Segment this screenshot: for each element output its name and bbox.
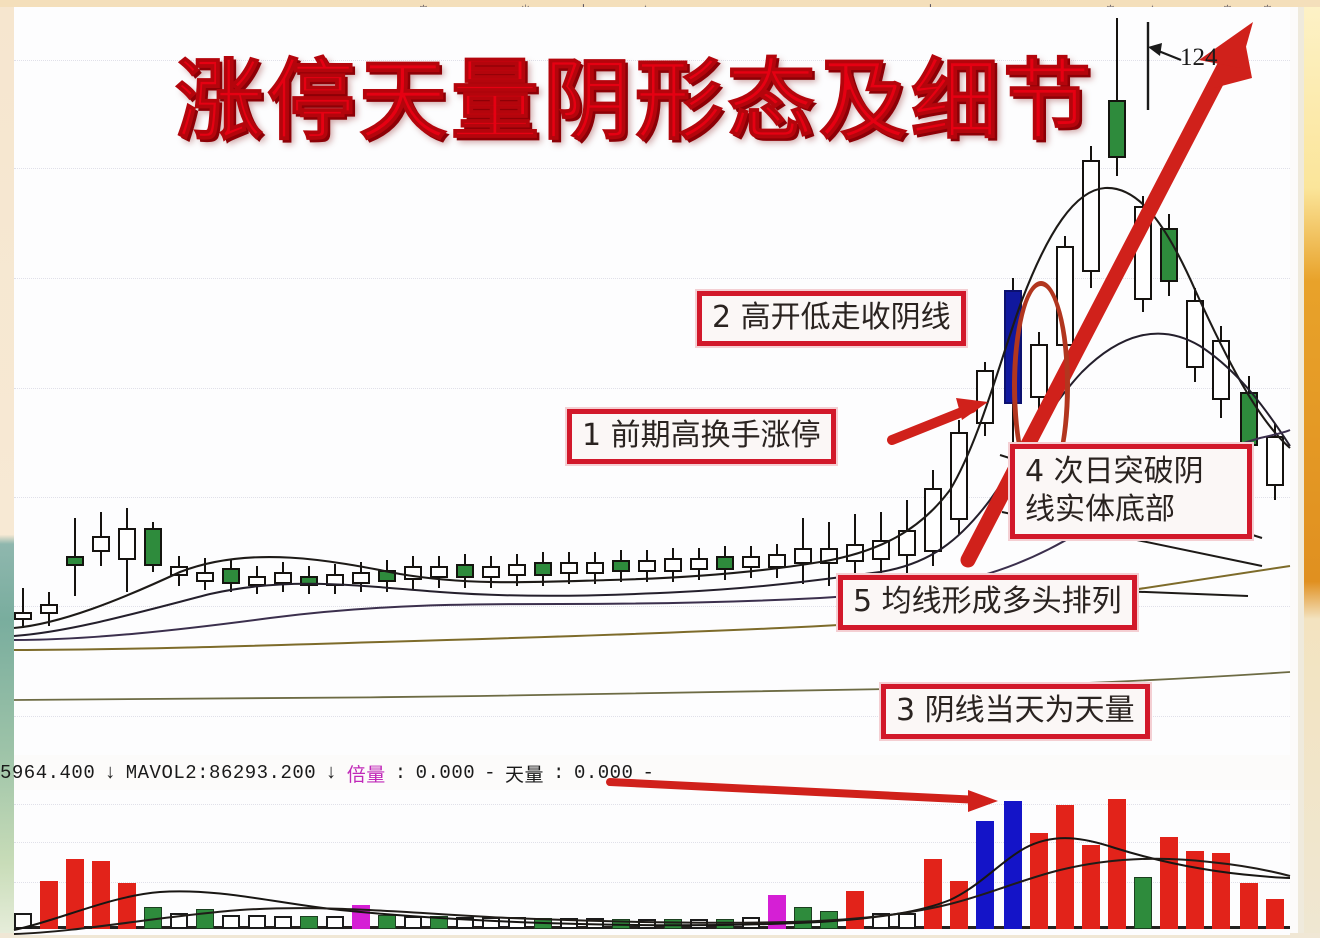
volume-bar [352,905,370,929]
candle-body [222,568,240,584]
candle-body [482,566,500,578]
candle-body [742,556,760,568]
volume-bar [1134,877,1152,929]
candle-body [170,566,188,576]
candle-body [1266,436,1284,486]
candle [430,556,448,588]
candle [898,500,916,578]
volume-bar [508,917,526,929]
volume-chart-panel [14,790,1290,935]
candle-body [586,562,604,574]
status-multiple-label: 倍量 [347,760,386,787]
volume-gridline [14,842,1290,843]
annotation-4-callout[interactable]: 4 次日突破阴 线实体底部 [1010,444,1252,539]
candle-body [820,548,838,564]
candle-body [1186,300,1204,368]
annotation-2-text: 2 高开低走收阴线 [712,300,951,335]
candle-body [560,562,578,574]
volume-bar [196,909,214,929]
volume-bar [1240,883,1258,929]
volume-bar [534,918,552,929]
candle-body [404,566,422,580]
volume-bar [1108,799,1126,929]
status-mavol: MAVOL2:86293.200 [126,762,316,784]
candle-body [378,570,396,582]
annotation-5-text: 5 均线形成多头排列 [853,584,1122,619]
stock-chart-screenshot: ✵✳❘✧❘✵✧✵✵ [0,0,1320,938]
price-gridline [14,388,1290,389]
candle [872,512,890,582]
candle [768,544,786,578]
volume-bar [716,919,734,929]
candle [638,550,656,582]
volume-bar [794,907,812,929]
status-huge-label: 天量 [505,760,544,787]
right-decorative-border [1304,0,1320,938]
volume-bar [560,918,578,929]
candle-body [690,558,708,570]
volume-bar [1212,853,1230,929]
candle [794,518,812,584]
candle [950,420,968,534]
volume-bar [950,881,968,929]
candle [846,514,864,584]
volume-bar [846,891,864,929]
candle [1212,326,1230,418]
candle [690,548,708,580]
volume-bar [924,859,942,929]
candle-body [66,556,84,566]
volume-bar [430,916,448,929]
candle [326,564,344,594]
candle-wick [22,588,24,628]
candle [560,552,578,584]
candle [378,560,396,592]
status-value: 5964.400 [0,762,95,784]
volume-bar [664,919,682,929]
candle-body [768,554,786,568]
candle [1108,18,1126,176]
candle [586,552,604,584]
annotation-3-callout[interactable]: 3 阴线当天为天量 [881,684,1150,739]
volume-gridline [14,804,1290,805]
candle [1186,288,1204,382]
volume-bar [40,881,58,929]
annotation-1-text: 1 前期高换手涨停 [582,418,821,453]
volume-bar [118,883,136,929]
volume-bar [1266,899,1284,929]
candle [820,522,838,586]
volume-bar [14,913,32,929]
candle [92,512,110,566]
candle [1082,146,1100,288]
candle [196,558,214,590]
candle-body [40,604,58,614]
page-title: 涨停天量阴形态及细节 [175,55,1095,147]
candle-body [950,432,968,520]
candle-body [1108,100,1126,158]
down-arrow-icon-2: ↓ [325,762,338,785]
candle [404,556,422,590]
volume-bar [222,915,240,929]
volume-bar [1056,805,1074,929]
left-decorative-border [0,0,14,938]
candle-body [274,572,292,584]
candle-body [456,564,474,578]
candle [118,508,136,592]
candle-body [872,540,890,560]
candle-body [1160,228,1178,282]
candle-body [924,488,942,552]
volume-bar [742,917,760,929]
volume-bar [768,895,786,929]
candle [612,550,630,582]
candle [14,588,32,628]
volume-bar [612,919,630,929]
candle [664,548,682,582]
candle-body [300,576,318,586]
candle [1134,196,1152,312]
status-bar: 5964.400 ↓ MAVOL2:86293.200 ↓ 倍量 : 0.000… [0,758,1320,788]
candle [40,592,58,626]
volume-bar [456,917,474,929]
candle-body [1082,160,1100,272]
candle-body [794,548,812,564]
candle-body [118,528,136,560]
annotation-4-text-line1: 4 次日突破阴 [1025,453,1237,491]
candle [352,562,370,592]
candle-body [534,562,552,576]
candle-body [326,574,344,586]
candle [222,560,240,592]
volume-bar [1082,845,1100,929]
volume-bar [976,821,994,929]
candle-body [1134,206,1152,300]
candle [976,362,994,436]
volume-bar [274,916,292,929]
candle-body [430,566,448,578]
status-huge-value: 0.000 [574,762,634,784]
candle-body [976,370,994,424]
candle-body [144,528,162,566]
annotation-4-text-line2: 线实体底部 [1025,491,1237,529]
candle-body [196,572,214,582]
volume-bar [404,916,422,929]
candle-body [352,572,370,584]
candle-body [716,556,734,570]
volume-bar [586,918,604,929]
status-dash-1: - [484,762,496,784]
candle-body [508,564,526,576]
volume-bar [170,913,188,929]
candle-body [14,612,32,620]
candle-body [1240,392,1258,446]
candle [274,562,292,592]
volume-bar [300,916,318,929]
volume-bar [1160,837,1178,929]
candle [482,556,500,588]
candle [1160,214,1178,296]
candle [742,546,760,578]
candle-body [898,530,916,556]
candle [924,470,942,566]
candle [170,556,188,586]
price-axis-label: 124 [1180,44,1218,72]
candle [66,518,84,596]
down-arrow-icon: ↓ [104,762,117,785]
candle [144,522,162,572]
candle [300,566,318,594]
status-dash-2: - [642,762,654,784]
volume-bar [326,916,344,929]
volume-bar [1004,801,1022,929]
status-multiple-value: 0.000 [416,762,476,784]
volume-bar [872,913,890,929]
volume-bar [1186,851,1204,929]
candle [508,554,526,586]
volume-bar [482,917,500,929]
candle [456,554,474,588]
candle [534,552,552,586]
annotation-2-callout[interactable]: 2 高开低走收阴线 [697,291,966,346]
candle [248,566,266,594]
volume-bar [378,915,396,929]
volume-bar [92,861,110,929]
annotation-5-callout[interactable]: 5 均线形成多头排列 [838,575,1137,630]
volume-bar [248,915,266,929]
volume-bar [690,919,708,929]
right-inner-border [1298,0,1304,938]
volume-bar [66,859,84,929]
volume-bar [1030,833,1048,929]
candle [716,546,734,580]
volume-bar [898,913,916,929]
candle [1266,424,1284,500]
annotation-1-callout[interactable]: 1 前期高换手涨停 [567,409,836,464]
volume-bar [638,919,656,929]
candle-body [612,560,630,572]
candle-body [248,576,266,586]
candle-body [92,536,110,552]
candle-body [1212,340,1230,400]
candle-body [846,544,864,562]
candle-body [638,560,656,572]
volume-bar [144,907,162,929]
annotation-3-text: 3 阴线当天为天量 [896,693,1135,728]
volume-bar [820,911,838,929]
candle-body [664,558,682,572]
